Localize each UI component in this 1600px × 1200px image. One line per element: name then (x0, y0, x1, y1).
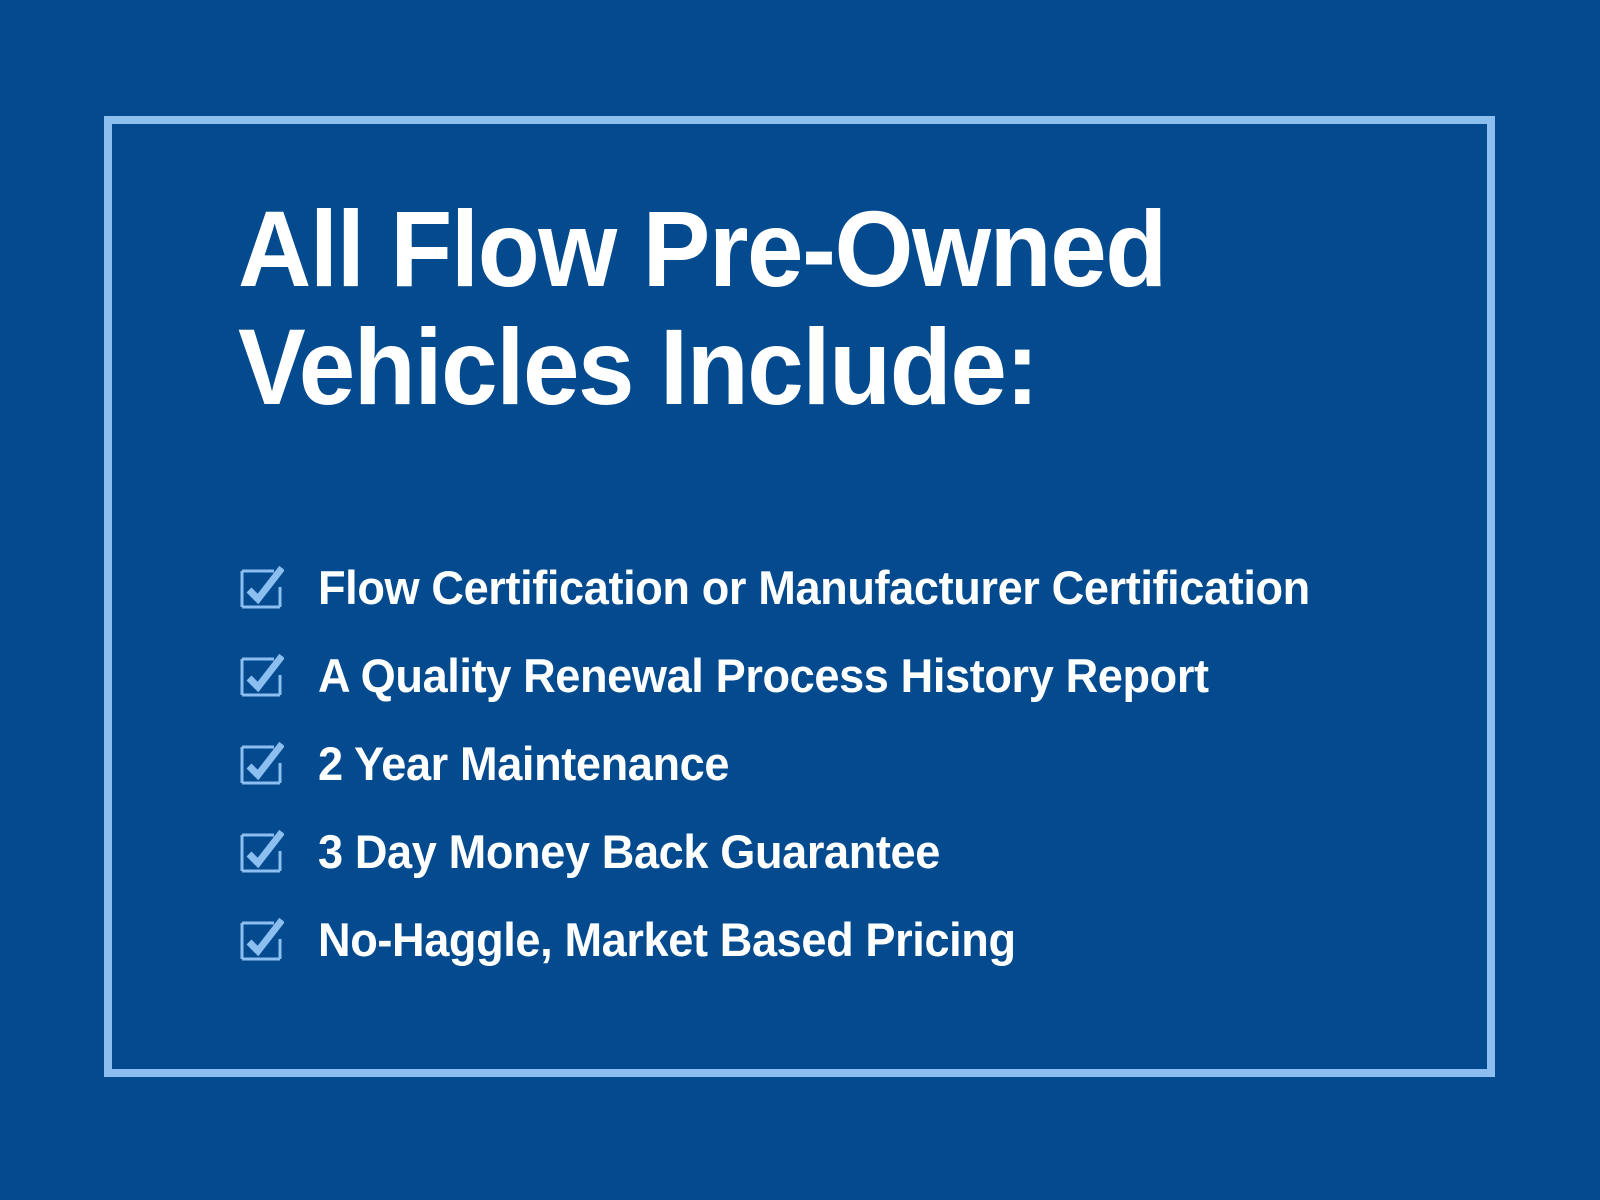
list-item: No-Haggle, Market Based Pricing (238, 896, 1438, 984)
list-item-label: 2 Year Maintenance (318, 739, 729, 789)
page-title-line-2: Vehicles Include: (238, 308, 1366, 426)
promo-card: All Flow Pre-Owned Vehicles Include: Flo… (0, 0, 1600, 1200)
card-content: All Flow Pre-Owned Vehicles Include: Flo… (238, 190, 1438, 984)
list-item-label: Flow Certification or Manufacturer Certi… (318, 563, 1310, 613)
list-item: Flow Certification or Manufacturer Certi… (238, 544, 1438, 632)
checkbox-checked-icon (238, 565, 284, 611)
benefits-checklist: Flow Certification or Manufacturer Certi… (238, 544, 1438, 984)
page-title: All Flow Pre-Owned Vehicles Include: (238, 190, 1366, 426)
list-item: 2 Year Maintenance (238, 720, 1438, 808)
list-item-label: 3 Day Money Back Guarantee (318, 827, 940, 877)
checkbox-checked-icon (238, 917, 284, 963)
page-title-line-1: All Flow Pre-Owned (238, 190, 1366, 308)
checkbox-checked-icon (238, 741, 284, 787)
checkbox-checked-icon (238, 829, 284, 875)
list-item: A Quality Renewal Process History Report (238, 632, 1438, 720)
list-item-label: No-Haggle, Market Based Pricing (318, 915, 1016, 965)
list-item: 3 Day Money Back Guarantee (238, 808, 1438, 896)
checkbox-checked-icon (238, 653, 284, 699)
list-item-label: A Quality Renewal Process History Report (318, 651, 1209, 701)
